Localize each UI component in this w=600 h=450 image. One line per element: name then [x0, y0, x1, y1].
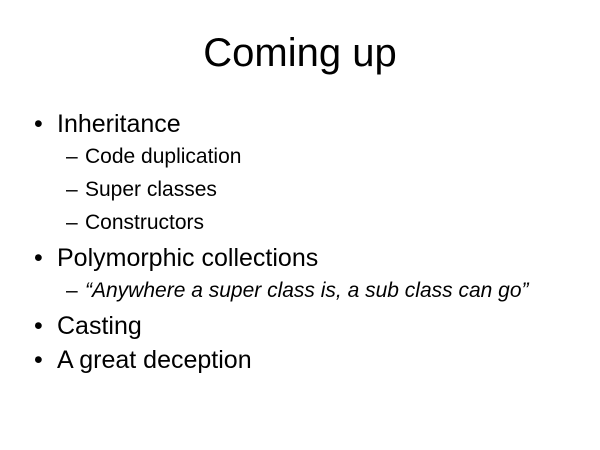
list-item: • Inheritance [28, 108, 578, 140]
bullet-dot-icon: • [34, 344, 43, 376]
bullet-dash-icon: – [66, 277, 78, 304]
list-item: – Code duplication [28, 143, 578, 170]
bullet-dot-icon: • [34, 242, 43, 274]
list-item-label: Inheritance [57, 110, 181, 138]
bullet-dash-icon: – [66, 176, 78, 203]
list-item: • Casting [28, 310, 578, 342]
list-item-label: A great deception [57, 346, 252, 374]
list-item-label: “Anywhere a super class is, a sub class … [85, 279, 529, 302]
bullet-dot-icon: • [34, 310, 43, 342]
list-item-label: Super classes [85, 178, 217, 201]
slide-content: • Inheritance – Code duplication – Super… [28, 108, 578, 378]
bullet-dash-icon: – [66, 209, 78, 236]
bullet-list-level2: – “Anywhere a super class is, a sub clas… [28, 277, 578, 304]
list-item-quote: – “Anywhere a super class is, a sub clas… [28, 277, 578, 304]
slide: Coming up • Inheritance – Code duplicati… [0, 0, 600, 450]
list-item-label: Polymorphic collections [57, 244, 318, 272]
bullet-dot-icon: • [34, 108, 43, 140]
list-item: – Super classes [28, 176, 578, 203]
list-item: • A great deception [28, 344, 578, 376]
list-item: • Polymorphic collections [28, 242, 578, 274]
list-item-label: Casting [57, 312, 142, 340]
bullet-dash-icon: – [66, 143, 78, 170]
list-item-label: Constructors [85, 211, 204, 234]
bullet-list-level2: – Code duplication – Super classes – Con… [28, 143, 578, 236]
bullet-list-level1: • Inheritance – Code duplication – Super… [28, 108, 578, 376]
list-item-label: Code duplication [85, 145, 241, 168]
page-title: Coming up [0, 31, 600, 75]
list-item: – Constructors [28, 209, 578, 236]
